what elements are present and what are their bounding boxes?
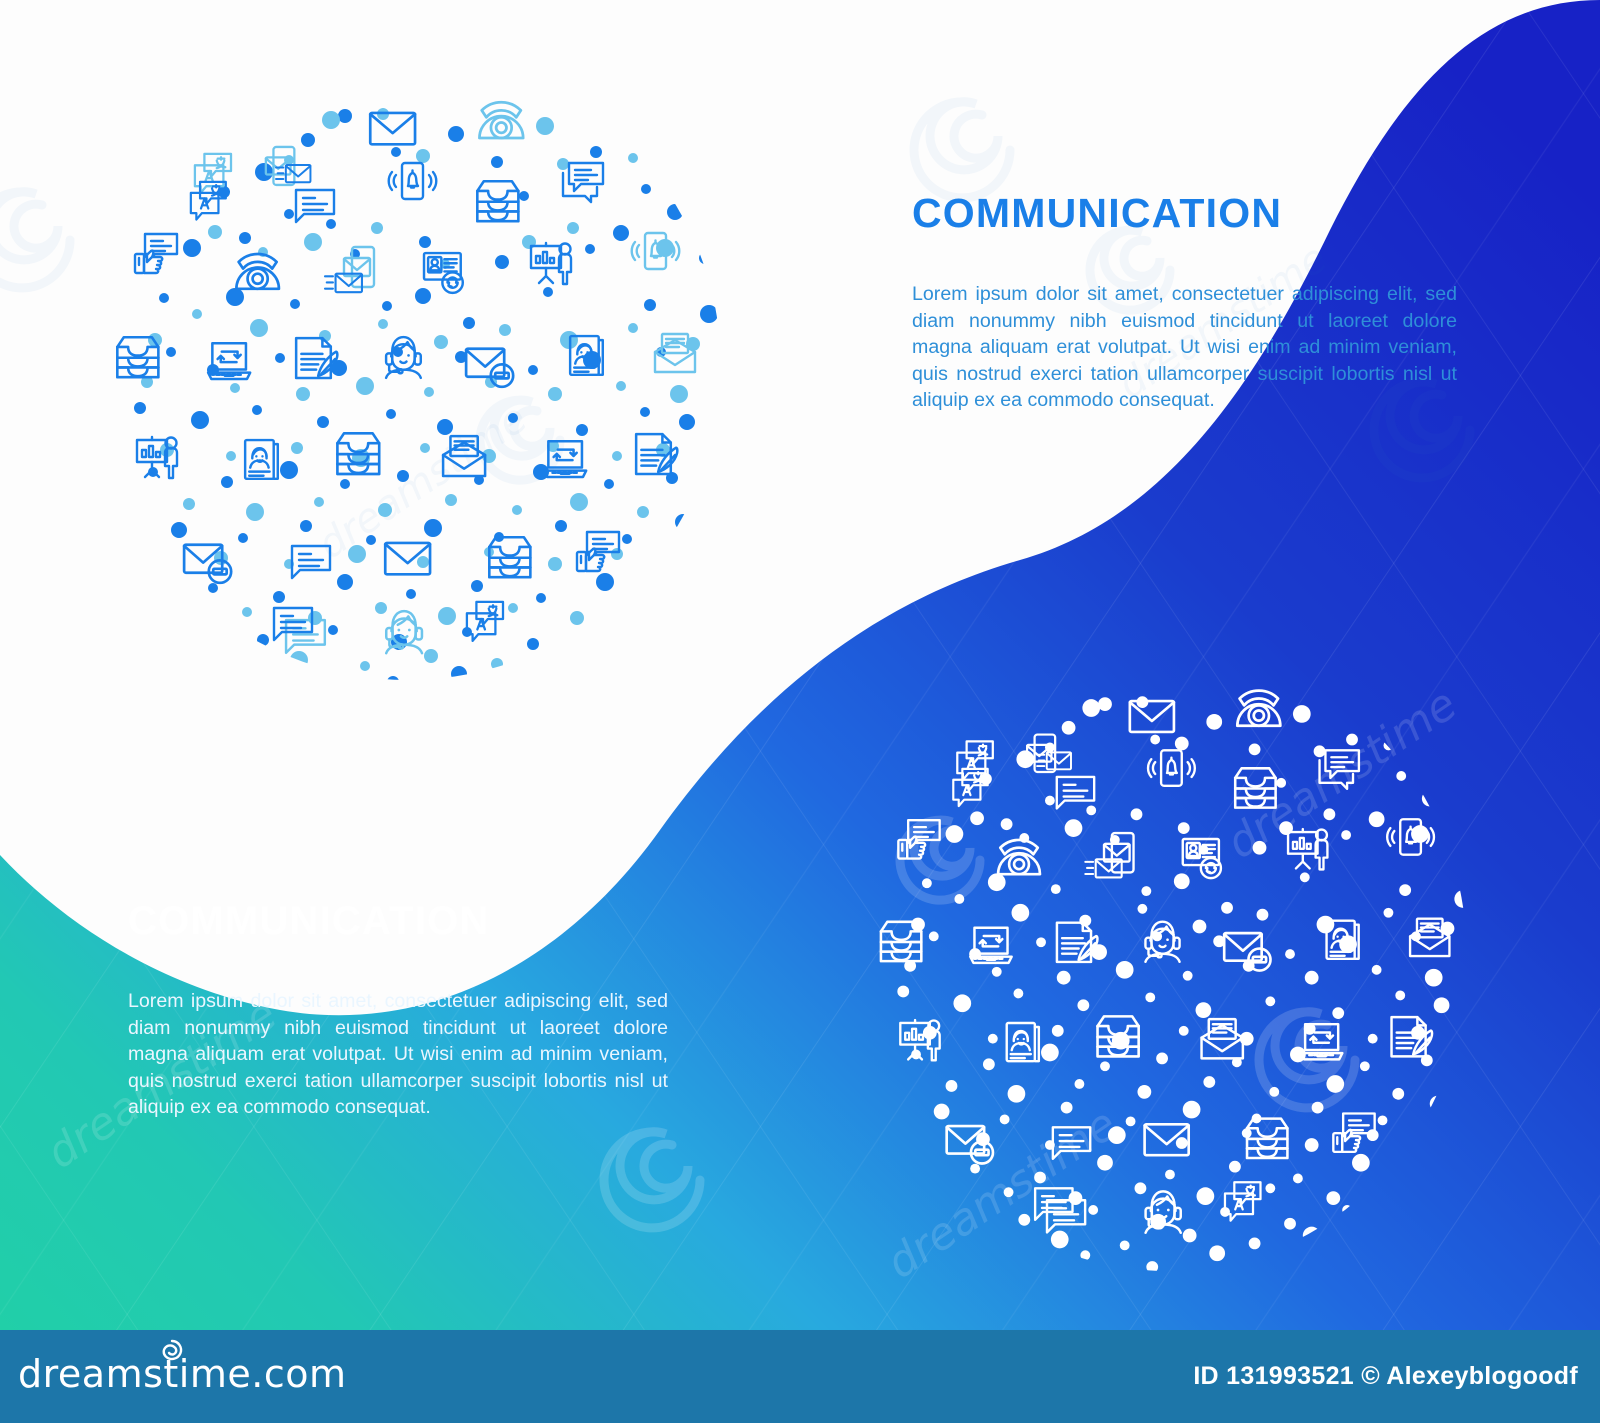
chat-thumb-up-icon [1333, 1114, 1374, 1152]
chat-bubble-icon [1053, 1127, 1090, 1158]
rotary-phone-icon [236, 254, 279, 289]
chat-bubble-icon [296, 190, 334, 222]
page-title-bottom: COMMUNICATION [128, 900, 668, 942]
profile-card-icon [245, 440, 278, 479]
presentation-person-icon [531, 243, 571, 284]
inbox-tray-icon [477, 181, 518, 221]
inbox-tray-icon [1247, 1119, 1287, 1158]
dreamstime-logo[interactable]: dreamstime.com [18, 1352, 346, 1396]
inbox-tray-icon [337, 433, 379, 474]
document-feather-icon [1392, 1017, 1433, 1056]
spiral-icon [159, 1337, 185, 1363]
chat-bubble-icon [286, 620, 325, 653]
document-feather-icon [1057, 923, 1098, 962]
chat-reply-icon [1320, 750, 1359, 788]
body-text-bottom: Lorem ipsum dolor sit amet, consectetuer… [128, 988, 668, 1121]
chat-thumb-up-icon [135, 234, 177, 273]
open-envelope-letter-icon [1202, 1019, 1243, 1058]
envelope-icon [370, 113, 415, 144]
open-envelope-letter-icon [655, 334, 695, 372]
open-envelope-letter-icon [443, 436, 485, 476]
smartphone-bell-icon [389, 163, 437, 199]
inbox-tray-icon [489, 537, 530, 577]
document-feather-icon [296, 338, 337, 378]
text-panel-bottom: COMMUNICATION Lorem ipsum dolor sit amet… [128, 900, 668, 1121]
laptop-sync-icon [208, 343, 250, 379]
icon-circle-dark [857, 636, 1477, 1281]
smartphone-bell-icon [1148, 750, 1195, 785]
image-credit: ID 131993521 © Alexeyblogoodf [1193, 1362, 1578, 1391]
inbox-tray-icon [1235, 768, 1275, 807]
chat-reply-icon [563, 163, 603, 202]
chat-bubble-icon [1057, 777, 1094, 808]
poster-canvas: dreamstime dreamstime dreamstime dreamst… [0, 0, 1600, 1423]
rotary-phone-icon [998, 840, 1040, 874]
decorative-dots-white [897, 696, 1472, 1273]
chat-thumb-up-icon [898, 820, 939, 858]
support-operator-female-icon [1145, 922, 1179, 962]
laptop-sync-icon [970, 928, 1011, 963]
translate-bubble-icon [1225, 1182, 1261, 1220]
support-operator-female-icon [386, 611, 422, 653]
open-envelope-letter-icon [1410, 919, 1449, 956]
support-operator-female-icon [386, 337, 421, 378]
icon-circle-light [93, 52, 723, 682]
icon-grid [117, 102, 695, 653]
presentation-person-icon [1288, 829, 1327, 869]
body-text-top: Lorem ipsum dolor sit amet, consectetuer… [912, 281, 1457, 414]
rotary-phone-icon [479, 102, 523, 138]
document-feather-icon [636, 434, 677, 474]
id-card-sync-icon [1183, 839, 1221, 878]
rotary-phone-icon [1237, 691, 1280, 726]
icon-grid [881, 691, 1450, 1233]
envelope-icon [1130, 701, 1174, 732]
id-card-sync-icon [424, 253, 463, 293]
page-title-top: COMMUNICATION [912, 192, 1457, 235]
chat-thumb-up-icon [577, 532, 619, 571]
stock-footer-bar: dreamstime.com ID 131993521 © Alexeyblog… [0, 1330, 1600, 1423]
support-operator-female-icon [1146, 1191, 1181, 1232]
inbox-tray-icon [1098, 1016, 1139, 1056]
chat-bubble-icon [292, 546, 330, 578]
translate-bubble-icon [467, 602, 503, 641]
chat-bubble-icon [1047, 1200, 1085, 1232]
text-panel-top: COMMUNICATION Lorem ipsum dolor sit amet… [912, 192, 1457, 414]
profile-card-icon [1007, 1023, 1039, 1061]
